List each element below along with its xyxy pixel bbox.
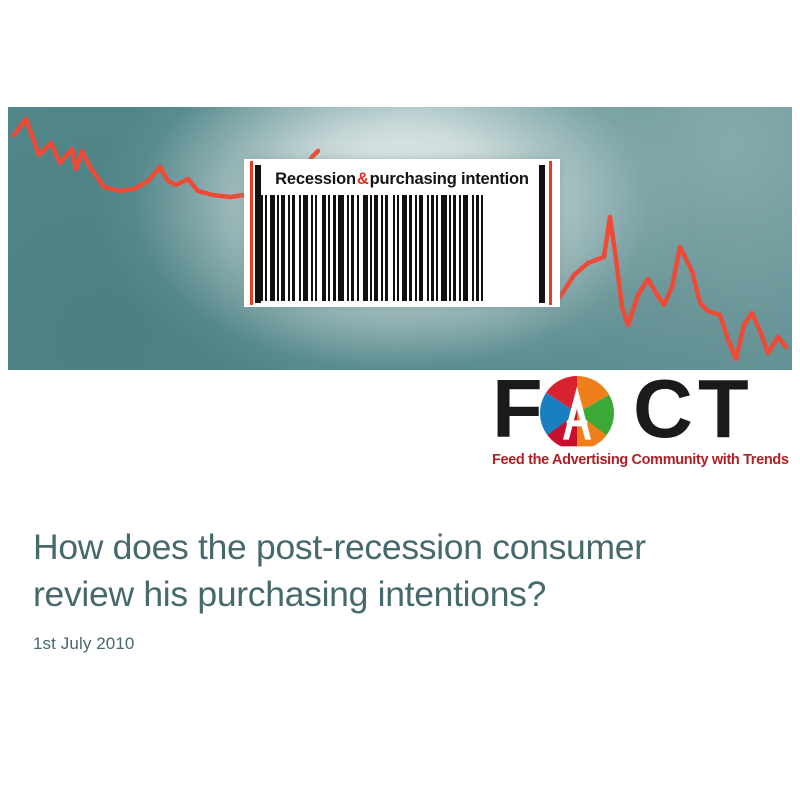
fact-letter-t: T [698,369,747,449]
barcode-title-ampersand: & [356,170,370,189]
page-title-line1: How does the post-recession consumer [33,527,646,567]
barcode-title-prefix: Recession [275,170,356,189]
fact-letter-f: F [492,369,541,449]
barcode-space [483,195,486,301]
fact-logo: F C T Feed the Advertising [490,372,790,477]
title-block: How does the post-recession consumer rev… [33,524,753,654]
page-title-line2: review his purchasing intentions? [33,574,546,614]
fact-letter-c: C [633,369,691,449]
page-title: How does the post-recession consumer rev… [33,524,753,618]
trend-line-right-path [560,217,786,359]
fact-tagline: Feed the Advertising Community with Tren… [492,452,792,468]
barcode-guard-red-right [549,161,552,305]
page-date: 1st July 2010 [33,634,753,654]
fact-wordmark: F C T [490,372,790,452]
barcode-block: Recession & purchasing intention [244,159,560,307]
hero-banner: Recession & purchasing intention [8,107,792,370]
barcode-title-suffix: purchasing intention [370,170,529,189]
fact-logo-mark-icon [540,376,614,450]
barcode-guard-red-left [250,161,253,305]
barcode-title: Recession & purchasing intention [266,165,538,193]
barcode-bars [260,195,544,301]
